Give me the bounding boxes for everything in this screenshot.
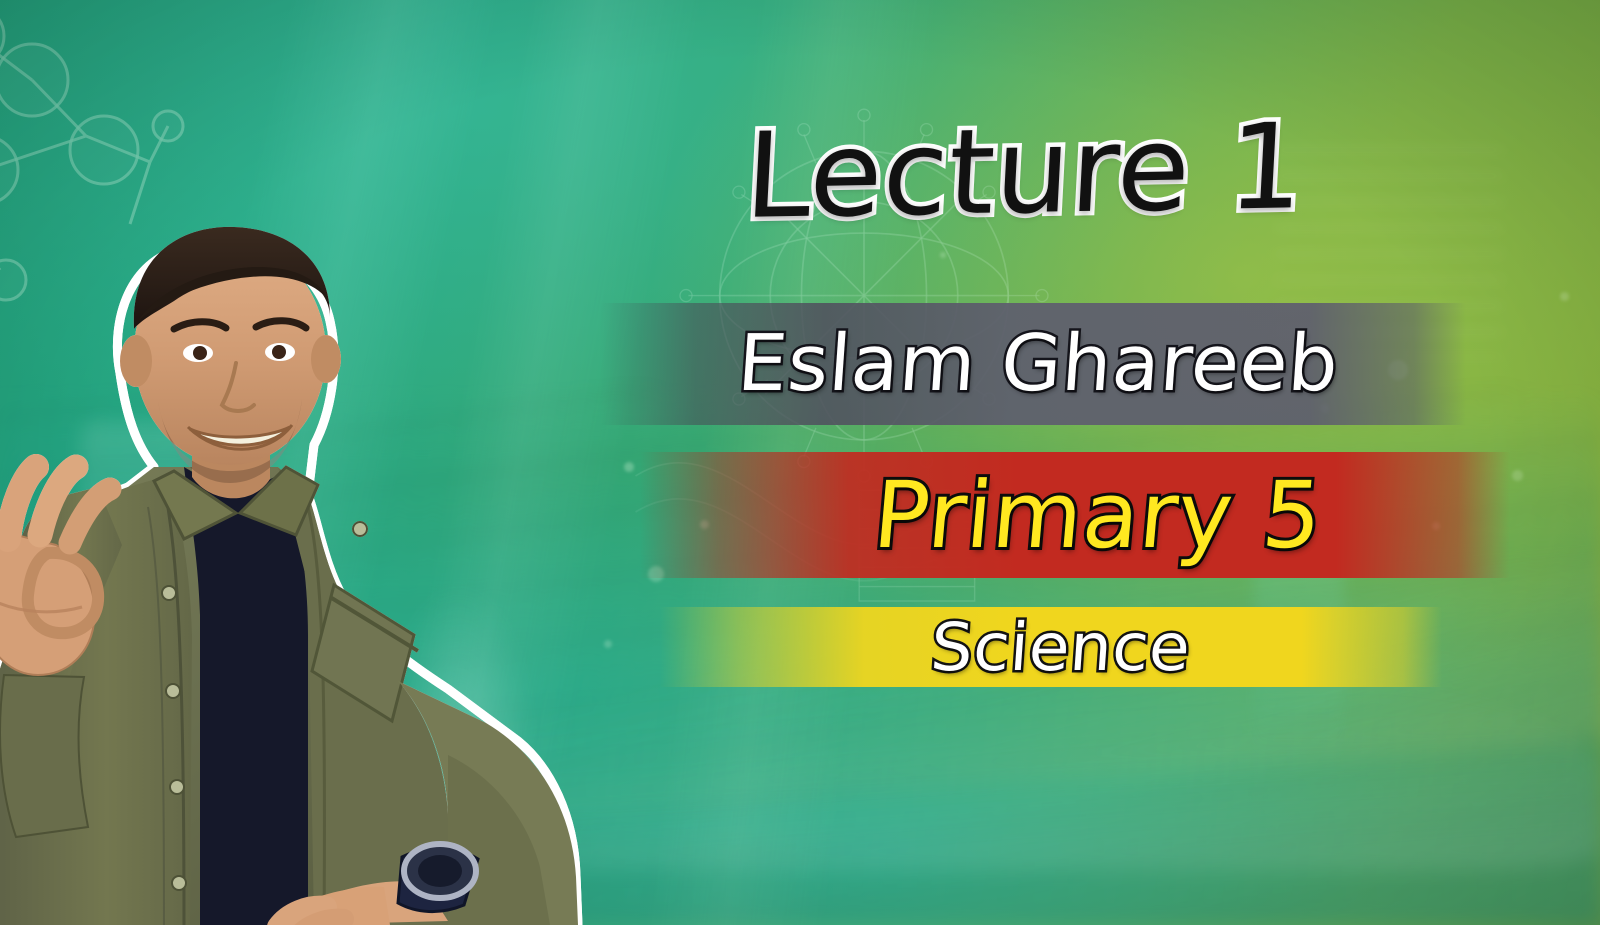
subject-bar: Science (660, 607, 1442, 687)
presenter-name-label: Eslam Ghareeb (735, 319, 1469, 409)
grade-bar: Primary 5 (640, 452, 1510, 578)
wristwatch-icon (398, 844, 478, 912)
presenter-photo (0, 115, 598, 925)
presenter-name-bar: Eslam Ghareeb (600, 303, 1466, 425)
lecture-thumbnail: Lecture 1 Eslam Ghareeb Primary 5 Scienc… (0, 0, 1600, 925)
page-title: Lecture 1 (743, 107, 1308, 235)
subject-label: Science (928, 609, 1445, 686)
grade-label: Primary 5 (870, 462, 1515, 569)
